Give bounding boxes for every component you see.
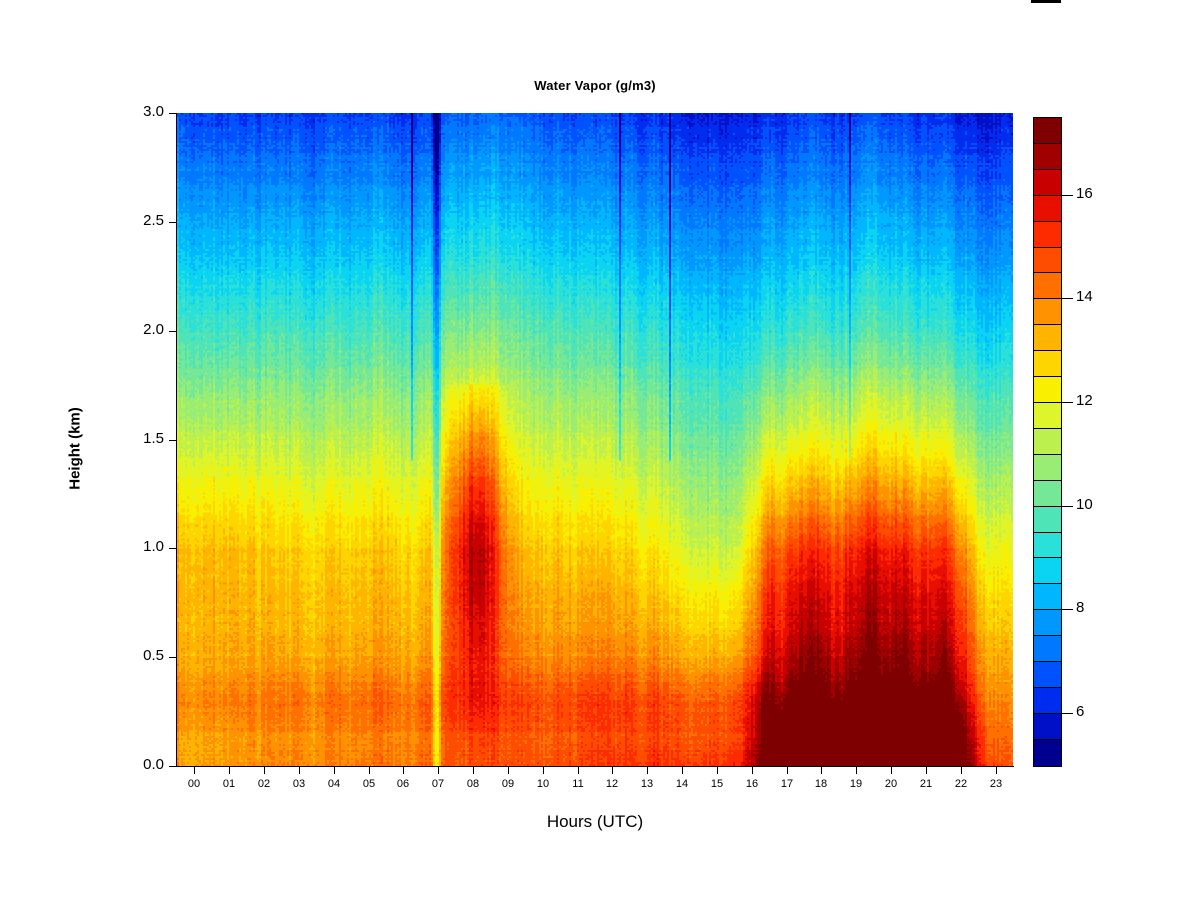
colorbar-block: [1034, 170, 1061, 196]
x-axis-tick-label: 13: [632, 778, 662, 790]
x-axis-tick-label: 16: [737, 778, 767, 790]
page-title: Water Vapor (g/m3): [177, 78, 1013, 93]
x-axis-tick: [369, 767, 370, 774]
x-axis-tick: [647, 767, 648, 774]
x-axis-tick-label: 05: [354, 778, 384, 790]
colorbar-block: [1034, 403, 1061, 429]
colorbar-tick: [1062, 609, 1073, 610]
x-axis-tick: [752, 767, 753, 774]
x-axis-tick: [403, 767, 404, 774]
x-axis-title: Hours (UTC): [177, 812, 1013, 832]
colorbar-block: [1034, 196, 1061, 222]
x-axis-tick: [682, 767, 683, 774]
x-axis-tick: [578, 767, 579, 774]
x-axis-tick: [821, 767, 822, 774]
x-axis-tick-label: 02: [249, 778, 279, 790]
colorbar-tick-label: 14: [1076, 288, 1093, 305]
y-axis-tick: [169, 766, 176, 767]
colorbar-block: [1034, 610, 1061, 636]
corner-artifact-bar: [1031, 0, 1061, 3]
x-axis-tick-label: 09: [493, 778, 523, 790]
x-axis-tick: [612, 767, 613, 774]
water-vapor-time-height-figure: Water Vapor (g/m3) 000102030405060708091…: [0, 0, 1200, 900]
y-axis-tick-label: 2.0: [120, 321, 164, 338]
colorbar-block: [1034, 273, 1061, 299]
x-axis-tick: [334, 767, 335, 774]
colorbar-block: [1034, 558, 1061, 584]
x-axis-tick-label: 01: [214, 778, 244, 790]
colorbar-tick: [1062, 506, 1073, 507]
x-axis-tick-label: 15: [702, 778, 732, 790]
x-axis-tick: [891, 767, 892, 774]
colorbar-block: [1034, 118, 1061, 144]
x-axis-tick-label: 10: [528, 778, 558, 790]
y-axis-tick-label: 3.0: [120, 103, 164, 120]
colorbar-block: [1034, 144, 1061, 170]
colorbar-tick-label: 12: [1076, 392, 1093, 409]
x-axis-tick: [508, 767, 509, 774]
colorbar-block: [1034, 507, 1061, 533]
colorbar-block: [1034, 455, 1061, 481]
colorbar-tick: [1062, 195, 1073, 196]
x-axis-tick-label: 07: [423, 778, 453, 790]
x-axis-tick: [717, 767, 718, 774]
y-axis-title: Height (km): [67, 369, 84, 529]
y-axis-tick-label: 1.5: [120, 430, 164, 447]
colorbar-block: [1034, 222, 1061, 248]
colorbar-block: [1034, 662, 1061, 688]
colorbar-block: [1034, 481, 1061, 507]
colorbar-block: [1034, 688, 1061, 714]
x-axis-tick: [787, 767, 788, 774]
colorbar-tick-label: 6: [1076, 703, 1084, 720]
colorbar-block: [1034, 740, 1061, 766]
x-axis-tick: [229, 767, 230, 774]
x-axis-tick-label: 18: [806, 778, 836, 790]
x-axis-tick-label: 08: [458, 778, 488, 790]
y-axis-tick: [169, 331, 176, 332]
colorbar-block: [1034, 636, 1061, 662]
x-axis-tick: [264, 767, 265, 774]
colorbar-tick-label: 8: [1076, 599, 1084, 616]
x-axis-tick: [194, 767, 195, 774]
y-axis-tick-label: 1.0: [120, 538, 164, 555]
x-axis-tick-label: 23: [981, 778, 1011, 790]
x-axis-tick: [996, 767, 997, 774]
colorbar-block: [1034, 584, 1061, 610]
x-axis-tick: [438, 767, 439, 774]
x-axis-tick-label: 22: [946, 778, 976, 790]
colorbar-tick-label: 10: [1076, 496, 1093, 513]
colorbar: [1033, 117, 1062, 767]
heatmap-plot-area: [177, 113, 1013, 766]
x-axis-tick-label: 21: [911, 778, 941, 790]
x-axis-tick-label: 00: [179, 778, 209, 790]
y-axis-tick: [169, 440, 176, 441]
y-axis-tick-label: 0.0: [120, 756, 164, 773]
x-axis-tick-label: 19: [841, 778, 871, 790]
colorbar-block: [1034, 351, 1061, 377]
x-axis-tick: [543, 767, 544, 774]
colorbar-block: [1034, 714, 1061, 740]
x-axis-tick-label: 03: [284, 778, 314, 790]
y-axis-tick-label: 0.5: [120, 647, 164, 664]
colorbar-block: [1034, 533, 1061, 559]
colorbar-block: [1034, 299, 1061, 325]
colorbar-tick: [1062, 713, 1073, 714]
colorbar-tick: [1062, 298, 1073, 299]
y-axis-line: [176, 113, 177, 767]
heatmap-canvas: [177, 113, 1013, 766]
y-axis-tick: [169, 548, 176, 549]
x-axis-line: [177, 766, 1014, 767]
colorbar-block: [1034, 248, 1061, 274]
y-axis-tick: [169, 657, 176, 658]
colorbar-tick-label: 16: [1076, 185, 1093, 202]
y-axis-tick-label: 2.5: [120, 212, 164, 229]
x-axis-tick: [473, 767, 474, 774]
colorbar-tick: [1062, 402, 1073, 403]
x-axis-tick: [856, 767, 857, 774]
y-axis-tick: [169, 222, 176, 223]
colorbar-block: [1034, 429, 1061, 455]
x-axis-tick-label: 14: [667, 778, 697, 790]
x-axis-tick: [926, 767, 927, 774]
colorbar-block: [1034, 325, 1061, 351]
x-axis-tick-label: 06: [388, 778, 418, 790]
y-axis-tick: [169, 113, 176, 114]
x-axis-tick-label: 11: [563, 778, 593, 790]
x-axis-tick-label: 12: [597, 778, 627, 790]
x-axis-tick-label: 04: [319, 778, 349, 790]
colorbar-block: [1034, 377, 1061, 403]
x-axis-tick: [961, 767, 962, 774]
x-axis-tick: [299, 767, 300, 774]
x-axis-tick-label: 20: [876, 778, 906, 790]
x-axis-tick-label: 17: [772, 778, 802, 790]
